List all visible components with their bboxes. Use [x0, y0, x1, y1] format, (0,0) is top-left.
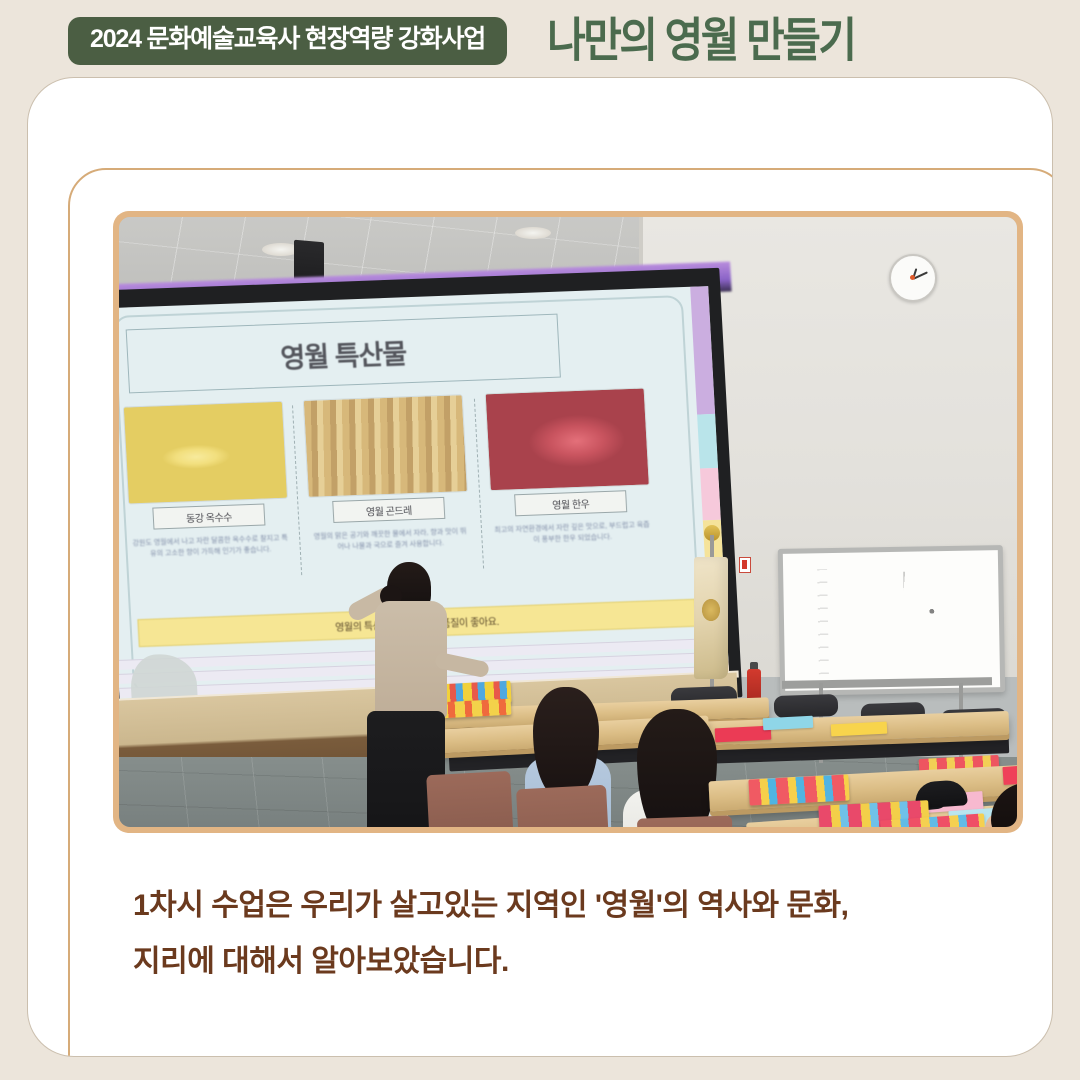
colored-paper	[1002, 763, 1017, 785]
photo-frame: 영월 특산물 동강 옥수수 강원도 영월에서 나고 자란 달콤한 옥수수로 찰지…	[113, 211, 1023, 833]
board-game-box	[748, 774, 849, 805]
whiteboard	[778, 545, 1006, 696]
slide-panel: 영월 곤드레 영월의 맑은 공기와 깨끗한 물에서 자라, 향과 맛이 뛰어나 …	[304, 395, 470, 554]
content-card: 영월 특산물 동강 옥수수 강원도 영월에서 나고 자란 달콤한 옥수수로 찰지…	[28, 78, 1052, 1056]
caption-line-2: 지리에 대해서 알아보았습니다.	[133, 934, 1013, 990]
wall-clock	[889, 254, 937, 302]
page-header: 2024 문화예술교육사 현장역량 강화사업 나만의 영월 만들기	[0, 0, 1080, 82]
slide-tab-pink	[700, 468, 721, 521]
fire-alarm-sign	[739, 557, 751, 573]
raw-beef-photo	[486, 389, 649, 491]
student-girl-blue-shirt-hair	[533, 687, 599, 797]
slide-panel-label: 영월 한우	[514, 490, 627, 516]
padded-chair	[426, 771, 516, 827]
clock-center-dot	[910, 275, 915, 280]
classroom-photo: 영월 특산물 동강 옥수수 강원도 영월에서 나고 자란 달콤한 옥수수로 찰지…	[119, 217, 1017, 827]
flag-emblem	[702, 599, 720, 621]
program-badge: 2024 문화예술교육사 현장역량 강화사업	[68, 17, 507, 65]
corn-photo	[124, 402, 287, 504]
slide-tab-cyan	[697, 414, 718, 469]
caption-block: 1차시 수업은 우리가 살고있는 지역인 '영월'의 역사와 문화, 지리에 대…	[133, 878, 1013, 989]
slide-panel: 동강 옥수수 강원도 영월에서 나고 자란 달콤한 옥수수로 찰지고 특유의 고…	[124, 402, 290, 561]
folding-chair	[774, 694, 839, 718]
dried-husk-photo	[304, 395, 467, 497]
whiteboard-diagram	[903, 571, 974, 624]
slide-panel: 영월 한우 최고의 자연환경에서 자란 깊은 맛으로, 부드럽고 육즙이 풍부한…	[486, 389, 652, 548]
student-girl-white-shirt-hair	[637, 709, 717, 827]
slide-panel-label: 영월 곤드레	[332, 497, 445, 523]
caption-line-1: 1차시 수업은 우리가 살고있는 지역인 '영월'의 역사와 문화,	[133, 878, 1013, 934]
slide-panel-label: 동강 옥수수	[152, 503, 265, 529]
ceiling-light-icon	[515, 227, 551, 239]
slide-title: 영월 특산물	[279, 332, 407, 376]
page-title: 나만의 영월 만들기	[547, 17, 854, 64]
padded-chair	[516, 785, 612, 827]
